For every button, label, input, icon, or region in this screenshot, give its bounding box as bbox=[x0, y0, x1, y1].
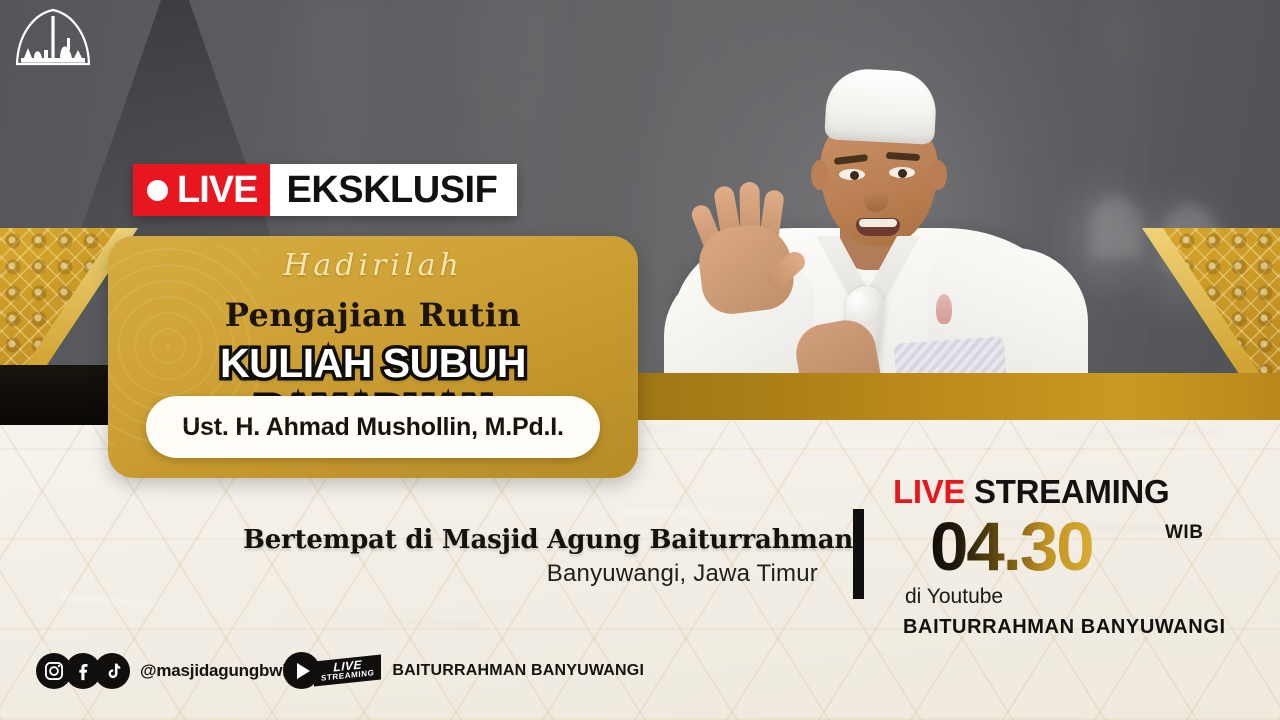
peci-cap bbox=[824, 67, 938, 145]
stream-time: 04.30 bbox=[930, 507, 1093, 586]
live-badge: LIVE bbox=[133, 164, 270, 216]
speaker-photo bbox=[648, 52, 1098, 400]
vertical-divider bbox=[853, 509, 864, 599]
live-exclusive-badge: LIVE EKSKLUSIF bbox=[133, 164, 517, 216]
stream-channel: BAITURRAHMAN BANYUWANGI bbox=[903, 616, 1226, 639]
tiktok-icon[interactable] bbox=[94, 653, 130, 689]
exclusive-badge: EKSKLUSIF bbox=[270, 164, 517, 216]
social-links: @masjidagungbwi bbox=[36, 653, 287, 689]
mosque-arch-logo-icon bbox=[10, 8, 96, 70]
live-badge-label: LIVE bbox=[177, 164, 257, 216]
raised-hand bbox=[692, 174, 796, 306]
live-streaming-tag: LIVE STREAMING bbox=[314, 654, 381, 686]
live-streaming-word: STREAMING bbox=[974, 473, 1169, 510]
event-poster: LIVE EKSKLUSIF Hadirilah Pengajian Rutin… bbox=[0, 0, 1280, 720]
speaker-name-pill: Ust. H. Ahmad Mushollin, M.Pd.I. bbox=[146, 396, 600, 458]
venue-place: Bertempat di Masjid Agung Baiturrahman bbox=[243, 525, 853, 555]
youtube-link[interactable]: LIVE STREAMING BAITURRAHMAN BANYUWANGI bbox=[283, 652, 644, 689]
black-band-corner bbox=[0, 365, 118, 425]
speaker-name: Ust. H. Ahmad Mushollin, M.Pd.I. bbox=[182, 413, 564, 442]
live-streaming-heading: LIVE STREAMING bbox=[893, 473, 1169, 511]
invitation-script-text: Hadirilah bbox=[108, 248, 638, 283]
social-handle: @masjidagungbwi bbox=[140, 661, 287, 681]
stream-timezone: WIB bbox=[1165, 522, 1203, 544]
youtube-channel-name: BAITURRAHMAN BANYUWANGI bbox=[392, 662, 644, 680]
stream-platform: di Youtube bbox=[905, 585, 1003, 609]
event-kicker: Pengajian Rutin bbox=[108, 296, 638, 334]
event-card: Hadirilah Pengajian Rutin KULIAH SUBUH R… bbox=[108, 236, 638, 478]
live-streaming-live-word: LIVE bbox=[893, 473, 965, 510]
venue-city: Banyuwangi, Jawa Timur bbox=[0, 560, 818, 588]
live-dot-icon bbox=[147, 180, 168, 201]
exclusive-badge-label: EKSKLUSIF bbox=[286, 164, 497, 216]
